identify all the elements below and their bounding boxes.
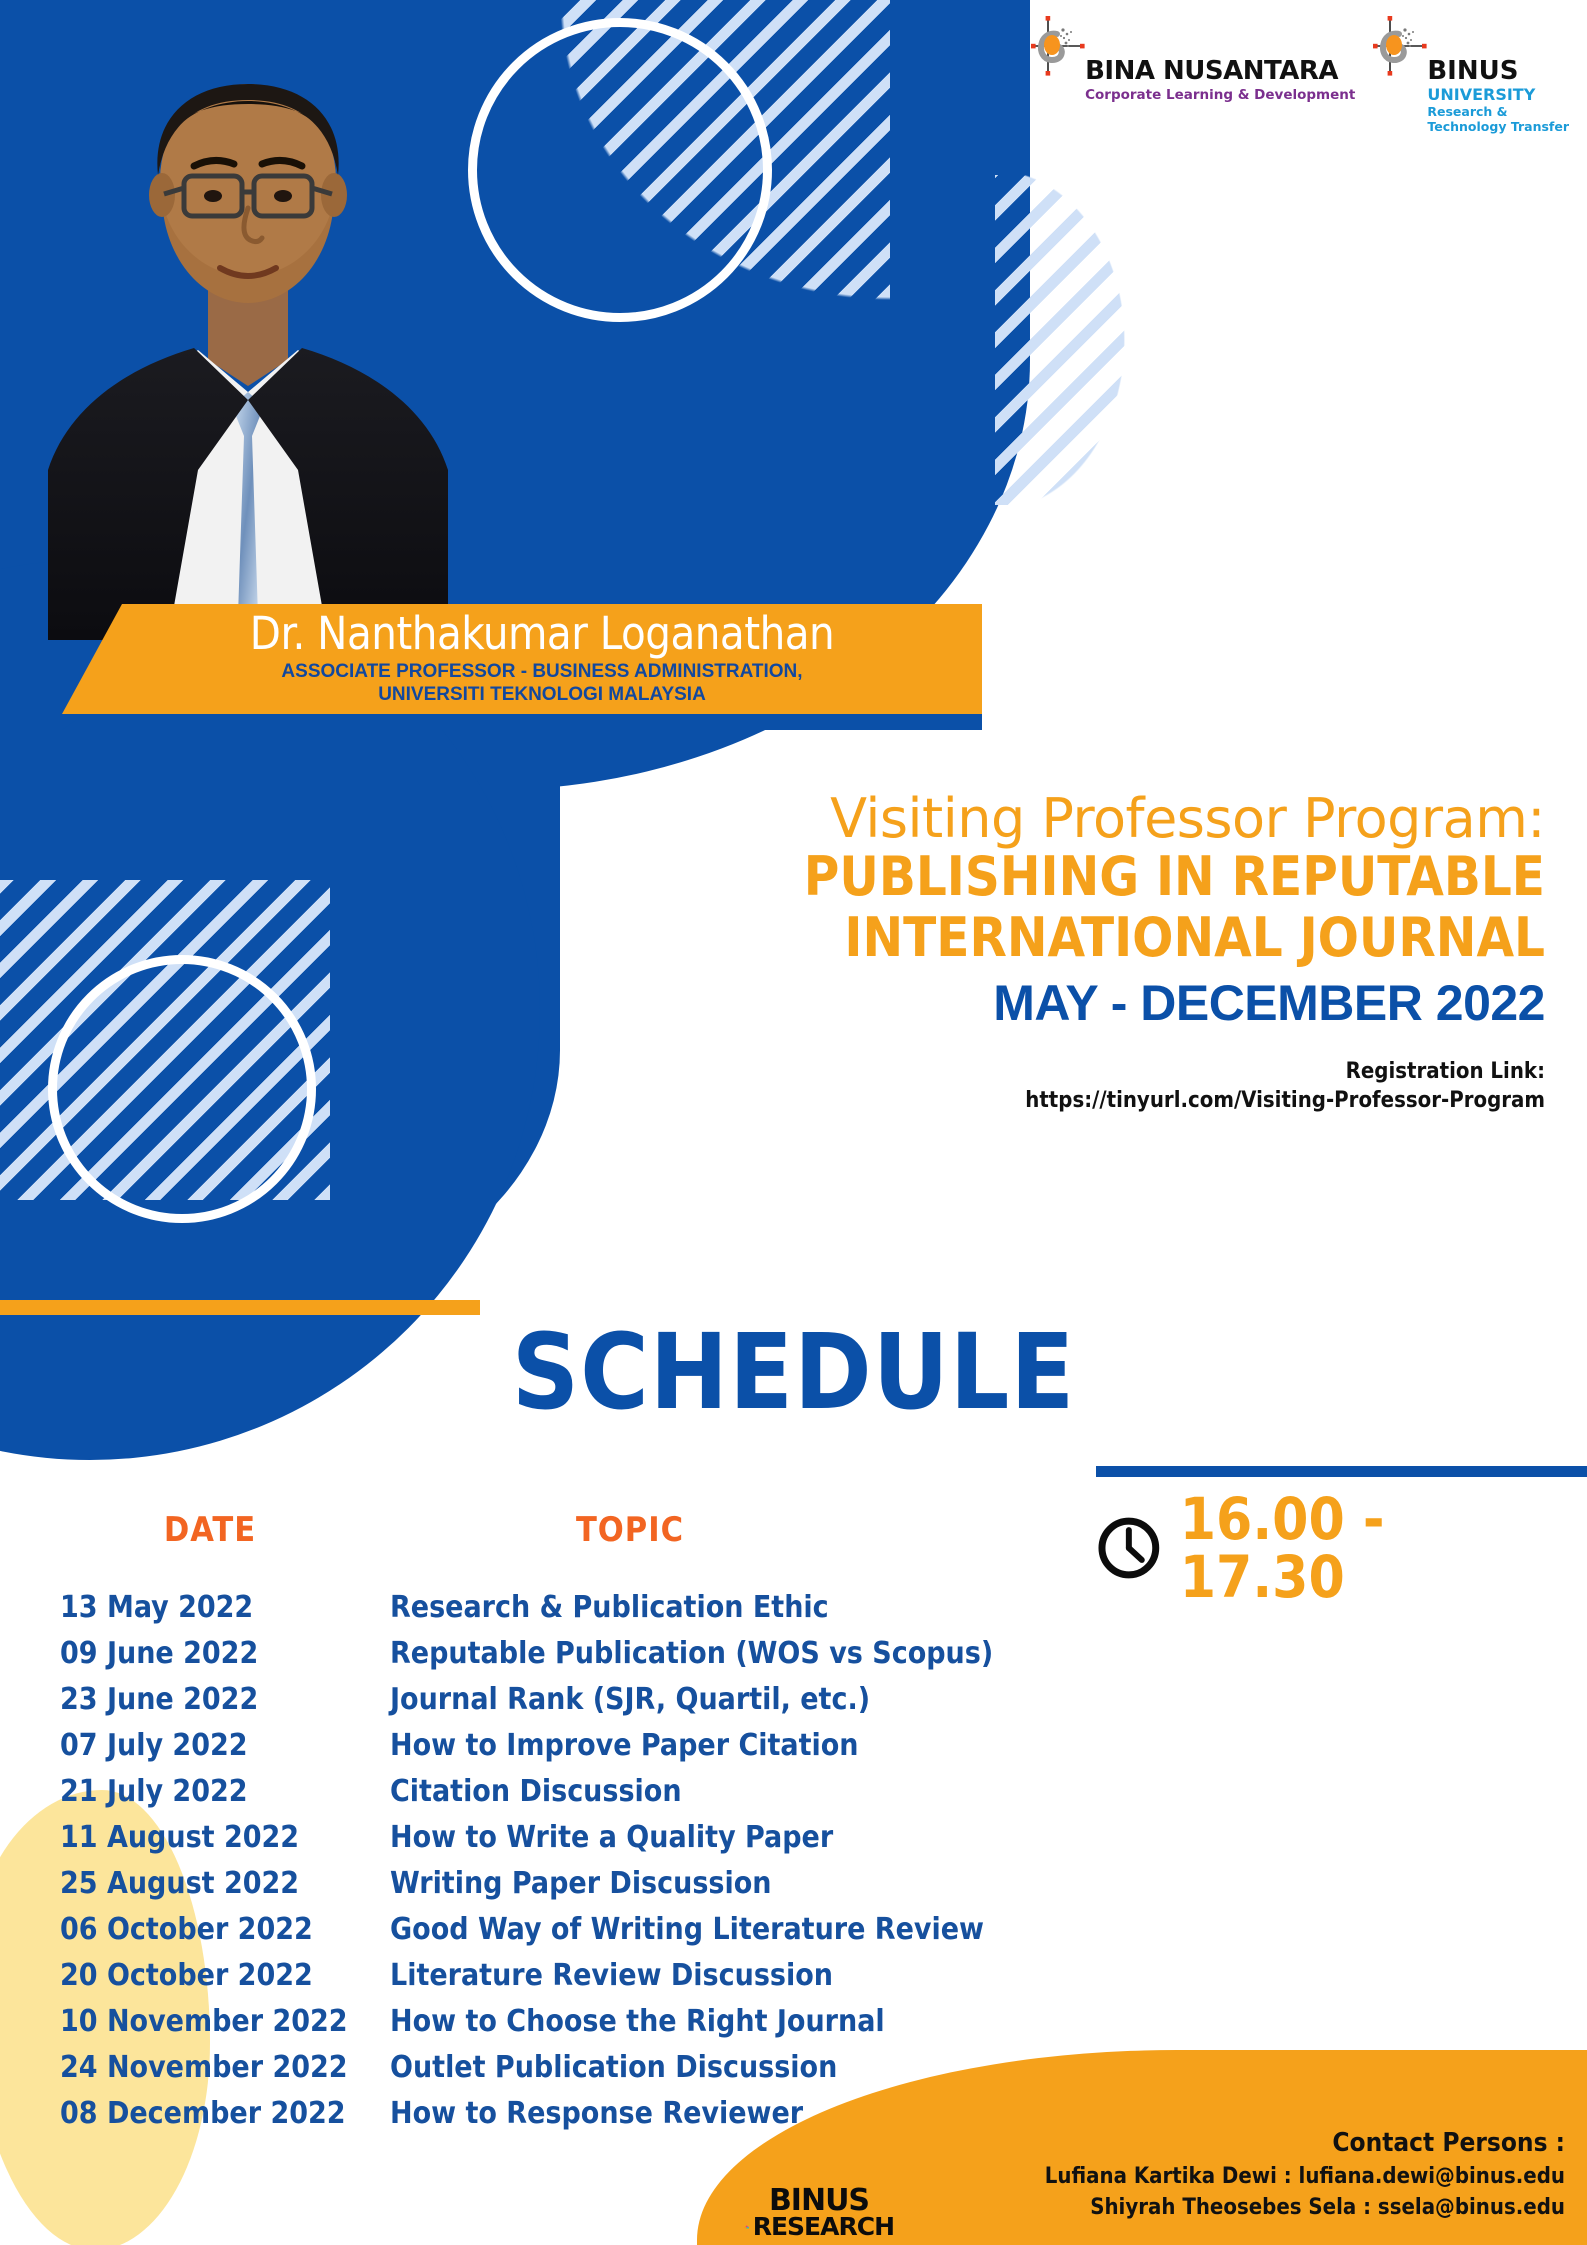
- time-text: 16.00 - 17.30: [1180, 1490, 1566, 1606]
- binus-research-line: Research &: [1427, 104, 1569, 119]
- circle-outline-lower-icon: [48, 955, 316, 1223]
- table-row: 13 May 2022Research & Publication Ethic: [60, 1590, 1240, 1636]
- row-date: 08 December 2022: [60, 2096, 390, 2131]
- row-topic: How to Response Reviewer: [390, 2096, 803, 2131]
- table-row: 23 June 2022Journal Rank (SJR, Quartil, …: [60, 1682, 1240, 1728]
- contact-person-1: Lufiana Kartika Dewi : lufiana.dewi@binu…: [1045, 2162, 1565, 2192]
- binus-research-top: BINUS: [744, 2187, 894, 2216]
- binus-eye-logo-icon: [1027, 12, 1085, 84]
- row-date: 11 August 2022: [60, 1820, 390, 1855]
- row-date: 09 June 2022: [60, 1636, 390, 1671]
- row-topic: How to Write a Quality Paper: [390, 1820, 833, 1855]
- registration-link[interactable]: https://tinyurl.com/Visiting-Professor-P…: [560, 1086, 1545, 1116]
- row-topic: Outlet Publication Discussion: [390, 2050, 837, 2085]
- speaker-role-line1: ASSOCIATE PROFESSOR - BUSINESS ADMINISTR…: [102, 661, 982, 684]
- speaker-role-line2: UNIVERSITI TEKNOLOGI MALAYSIA: [102, 684, 982, 707]
- row-date: 24 November 2022: [60, 2050, 390, 2085]
- binus-research-logo: BINUS RESEARCH: [744, 2187, 894, 2239]
- row-topic: Writing Paper Discussion: [390, 1866, 772, 1901]
- registration-block: Registration Link: https://tinyurl.com/V…: [560, 1057, 1545, 1116]
- row-topic: Good Way of Writing Literature Review: [390, 1912, 984, 1947]
- row-date: 10 November 2022: [60, 2004, 390, 2039]
- binus-university-line: UNIVERSITY: [1427, 86, 1569, 104]
- registration-label: Registration Link:: [560, 1057, 1545, 1087]
- binus-eye-logo-icon: [1369, 12, 1427, 84]
- row-date: 13 May 2022: [60, 1590, 390, 1625]
- binus-techtransfer-line: Technology Transfer: [1427, 119, 1569, 134]
- table-row: 10 November 2022How to Choose the Right …: [60, 2004, 1240, 2050]
- binus-university-logo: BINUS UNIVERSITY Research & Technology T…: [1369, 12, 1569, 134]
- speaker-name-banner: Dr. Nanthakumar Loganathan ASSOCIATE PRO…: [62, 604, 982, 714]
- contact-block: Contact Persons : Lufiana Kartika Dewi :…: [1045, 2126, 1565, 2223]
- poster-canvas: BINA NUSANTARA Corporate Learning & Deve…: [0, 0, 1587, 2245]
- row-date: 06 October 2022: [60, 1912, 390, 1947]
- schedule-heading: SCHEDULE: [0, 1320, 1587, 1424]
- binus-research-bottom: RESEARCH: [753, 2215, 894, 2239]
- binus-title: BINUS: [1427, 58, 1569, 84]
- speaker-name: Dr. Nanthakumar Loganathan: [102, 611, 982, 656]
- table-row: 06 October 2022Good Way of Writing Liter…: [60, 1912, 1240, 1958]
- column-header-topic: TOPIC: [420, 1510, 840, 1550]
- program-title-line1: PUBLISHING IN REPUTABLE: [560, 847, 1545, 907]
- clock-icon: [1096, 1515, 1162, 1581]
- row-topic: Reputable Publication (WOS vs Scopus): [390, 1636, 993, 1671]
- table-row: 21 July 2022Citation Discussion: [60, 1774, 1240, 1820]
- contact-person-2: Shiyrah Theosebes Sela : ssela@binus.edu: [1045, 2193, 1565, 2223]
- row-topic: How to Choose the Right Journal: [390, 2004, 885, 2039]
- speaker-photo: [48, 0, 448, 640]
- row-topic: Citation Discussion: [390, 1774, 682, 1809]
- bina-nusantara-title: BINA NUSANTARA: [1085, 58, 1355, 84]
- title-block: Visiting Professor Program: PUBLISHING I…: [560, 790, 1567, 1116]
- row-date: 25 August 2022: [60, 1866, 390, 1901]
- time-divider: [1096, 1466, 1587, 1477]
- time-badge: 16.00 - 17.30: [1096, 1490, 1566, 1606]
- bina-nusantara-subtitle: Corporate Learning & Development: [1085, 87, 1355, 103]
- speaker-role: ASSOCIATE PROFESSOR - BUSINESS ADMINISTR…: [102, 661, 982, 707]
- row-topic: Literature Review Discussion: [390, 1958, 833, 1993]
- bina-nusantara-logo: BINA NUSANTARA Corporate Learning & Deve…: [1027, 12, 1355, 103]
- contact-label: Contact Persons :: [1045, 2126, 1565, 2162]
- table-row: 11 August 2022How to Write a Quality Pap…: [60, 1820, 1240, 1866]
- row-topic: Research & Publication Ethic: [390, 1590, 829, 1625]
- row-date: 21 July 2022: [60, 1774, 390, 1809]
- program-date-range: MAY - DECEMBER 2022: [560, 972, 1545, 1035]
- gold-accent-bar: [0, 1300, 480, 1315]
- logo-row: BINA NUSANTARA Corporate Learning & Deve…: [1027, 12, 1569, 134]
- row-date: 07 July 2022: [60, 1728, 390, 1763]
- circle-outline-top-icon: [468, 18, 772, 322]
- table-row: 25 August 2022Writing Paper Discussion: [60, 1866, 1240, 1912]
- row-date: 20 October 2022: [60, 1958, 390, 1993]
- program-eyebrow: Visiting Professor Program:: [560, 790, 1545, 847]
- row-date: 23 June 2022: [60, 1682, 390, 1717]
- program-title-line2: INTERNATIONAL JOURNAL: [560, 908, 1545, 968]
- column-header-date: DATE: [60, 1510, 360, 1550]
- table-row: 07 July 2022How to Improve Paper Citatio…: [60, 1728, 1240, 1774]
- table-row: 20 October 2022Literature Review Discuss…: [60, 1958, 1240, 2004]
- table-row: 09 June 2022Reputable Publication (WOS v…: [60, 1636, 1240, 1682]
- row-topic: How to Improve Paper Citation: [390, 1728, 859, 1763]
- binus-research-dots-icon: [744, 2218, 750, 2236]
- row-topic: Journal Rank (SJR, Quartil, etc.): [390, 1682, 870, 1717]
